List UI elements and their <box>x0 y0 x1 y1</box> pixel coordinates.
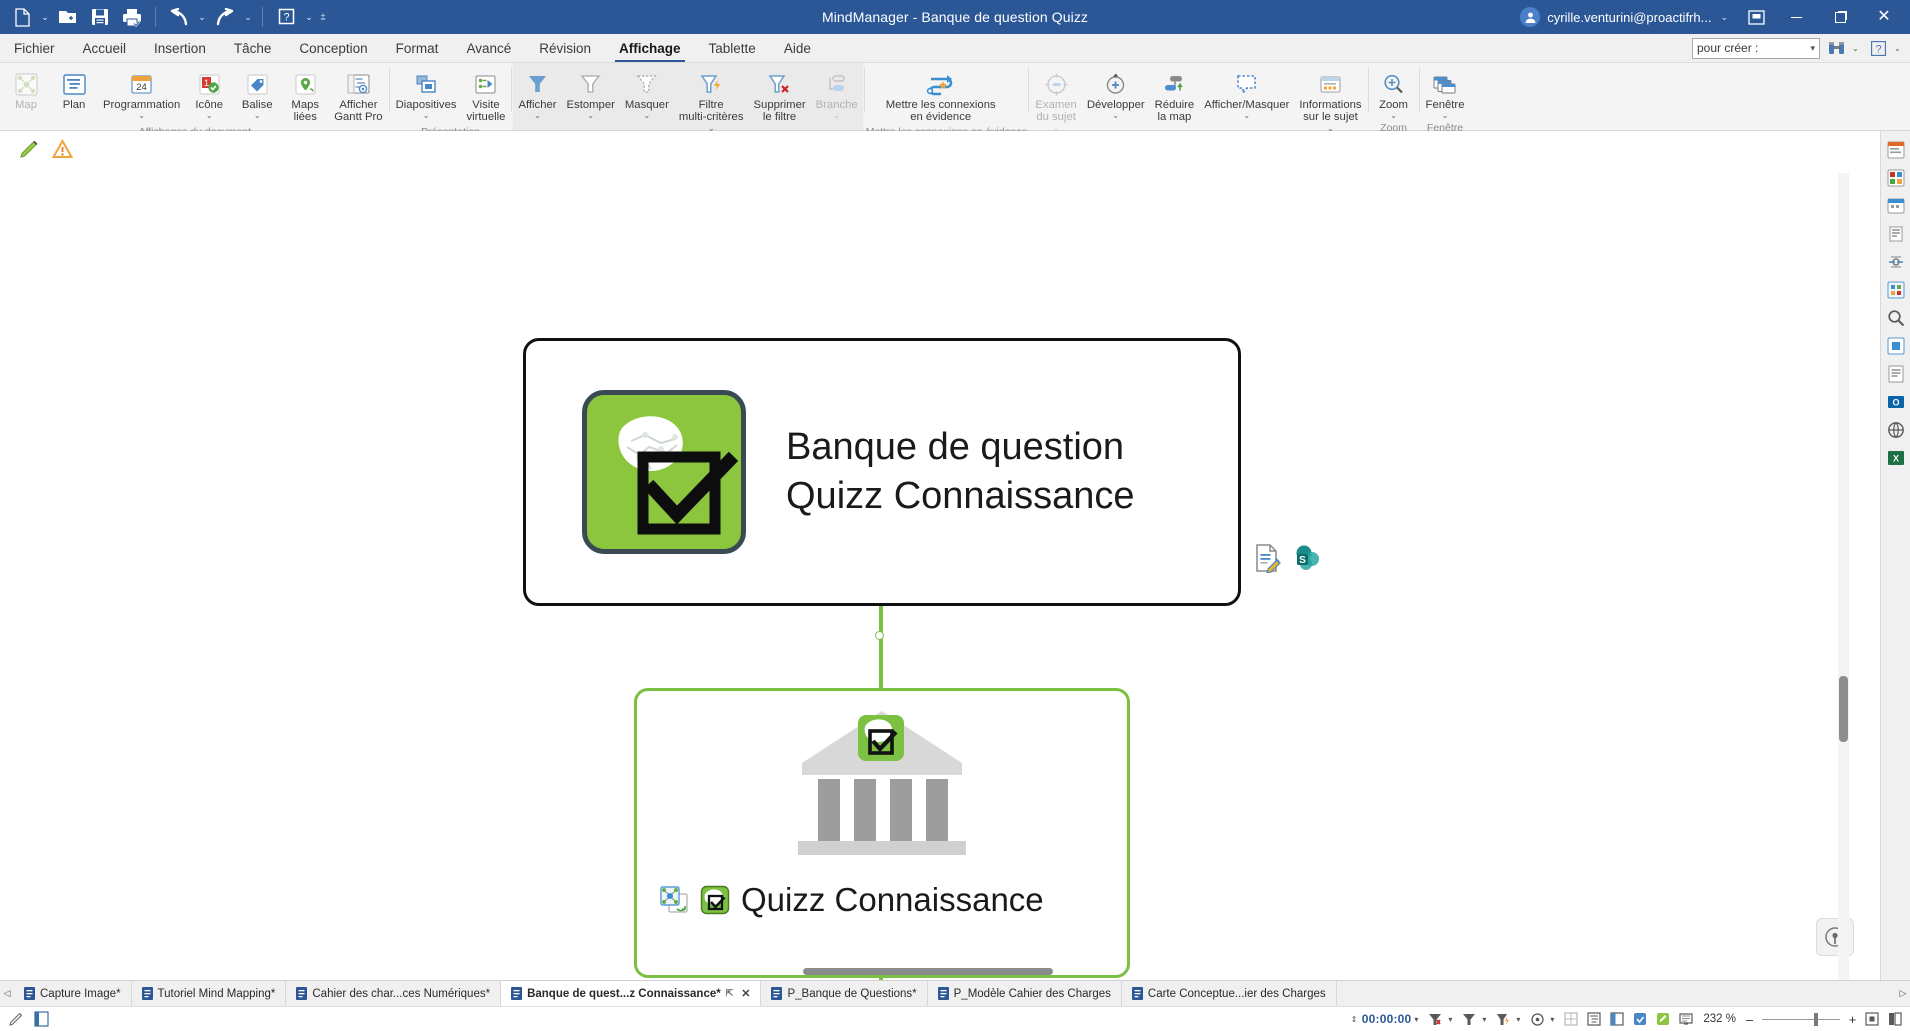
timer-caret-icon[interactable]: ▾ <box>1414 1015 1422 1024</box>
ribbon-button-afficher[interactable]: Afficher ⌄ <box>513 67 561 120</box>
ribbon-label: Développer <box>1087 99 1145 111</box>
help-caret-icon[interactable]: ⌄ <box>302 2 316 32</box>
tab-strip-right: pour créer : ▾ ⌄ ? ⌄ <box>1692 34 1910 62</box>
ribbon-tab-strip: Fichier Accueil Insertion Tâche Concepti… <box>0 34 1910 63</box>
power-filter-icon <box>699 69 724 99</box>
ribbon-label: Supprimer le filtre <box>754 99 806 124</box>
mind-map-canvas[interactable]: Banque de question Quizz Connaissance S <box>0 131 1880 980</box>
document-tab-p-banque-de-questions[interactable]: P_Banque de Questions* <box>761 981 927 1006</box>
ribbon-label: Filtre multi-critères <box>679 99 744 124</box>
svg-text:?: ? <box>1875 43 1881 55</box>
chevron-down-icon[interactable]: ⌄ <box>1390 111 1397 120</box>
document-icon <box>1132 987 1143 1000</box>
view-highlight-icon[interactable] <box>1630 1009 1650 1029</box>
ribbon-button-estomper[interactable]: Estomper ⌄ <box>562 67 620 120</box>
timer-spinner-icon[interactable]: ⇕ <box>1351 1015 1359 1024</box>
svg-text:24: 24 <box>136 82 147 93</box>
help-icon[interactable]: ? <box>270 2 302 32</box>
close-icon: ✕ <box>1877 9 1890 25</box>
ribbon-group-mettre-les-connexions-en-evidence: Mettre les connexions en évidence ⌄ Mett… <box>866 63 1028 130</box>
ribbon-label: Programmation <box>103 99 180 111</box>
ribbon-button-icone[interactable]: 1 Icône ⌄ <box>185 67 233 120</box>
tab-tablette[interactable]: Tablette <box>695 34 770 62</box>
ribbon-button-afficher-gantt-pro[interactable]: Afficher Gantt Pro <box>329 67 387 124</box>
tab-fichier[interactable]: Fichier <box>0 34 69 62</box>
quick-access-toolbar: ⌄ ⌄ ⌄ ? ⌄ ⩲ <box>0 0 330 34</box>
print-icon[interactable] <box>116 2 148 32</box>
save-icon[interactable] <box>84 2 116 32</box>
chevron-down-icon[interactable]: ⌄ <box>138 111 145 120</box>
collapse-handle[interactable] <box>875 631 884 640</box>
child-topic-text: Quizz Connaissance <box>741 881 1044 919</box>
avatar <box>1520 7 1540 27</box>
ribbon-group-detail: Examen du sujet ⌄ Développer ⌄ Réduire l… <box>1030 63 1366 130</box>
filter-fade-icon <box>578 69 603 99</box>
ribbon-label: Visite virtuelle <box>467 99 506 124</box>
window-cascade-icon <box>1432 69 1458 99</box>
ribbon: Map Plan 24 Programmation ⌄ 1 Icône <box>0 63 1910 131</box>
document-tab-carte-conceptuelle-cahier-des-charges[interactable]: Carte Conceptue...ier des Charges <box>1122 981 1337 1006</box>
document-icon <box>938 987 949 1000</box>
document-tab-label: Tutoriel Mind Mapping* <box>158 988 276 1000</box>
document-tab-tutoriel-mind-mapping[interactable]: Tutoriel Mind Mapping* <box>132 981 287 1006</box>
outline-view-icon <box>62 69 87 99</box>
brain-checkbox-green-icon <box>582 390 746 554</box>
account-button[interactable]: cyrille.venturini@proactifrh... ⌄ <box>1510 0 1738 34</box>
svg-text:X: X <box>1892 454 1898 464</box>
chevron-down-icon[interactable]: ⌄ <box>206 111 213 120</box>
chevron-down-icon[interactable]: ⌄ <box>833 111 840 120</box>
ribbon-button-map[interactable]: Map <box>2 67 50 111</box>
tab-revision[interactable]: Révision <box>525 34 605 62</box>
collapse-map-icon <box>1162 69 1187 99</box>
title-bar-right: cyrille.venturini@proactifrh... ⌄ ✕ <box>1510 0 1910 34</box>
document-tab-label: Cahier des char...ces Numériques* <box>312 988 490 1000</box>
map-view-icon <box>14 69 39 99</box>
child-topic-row: Quizz Connaissance <box>637 881 1127 919</box>
branch-icon <box>824 69 849 99</box>
highlight-connections-icon <box>925 69 957 99</box>
ribbon-label: Maps liées <box>291 99 319 124</box>
central-topic-text: Banque de question Quizz Connaissance <box>786 423 1135 520</box>
tab-format[interactable]: Format <box>382 34 453 62</box>
document-tab-cahier-des-charges-numeriques[interactable]: Cahier des char...ces Numériques* <box>286 981 501 1006</box>
expand-icon <box>1103 69 1128 99</box>
brain-checkbox-small-icon[interactable] <box>700 885 730 915</box>
undo-caret-icon[interactable]: ⌄ <box>195 2 209 32</box>
document-icon <box>142 987 153 1000</box>
show-hide-icon <box>1234 69 1259 99</box>
ribbon-button-filtre-multi-criteres[interactable]: Filtre multi-critères ⌄ <box>674 67 749 133</box>
ribbon-label: Masquer <box>625 99 669 111</box>
document-tab-label: P_Banque de Questions* <box>787 988 916 1000</box>
doctabs-prev-arrow[interactable]: ◁ <box>0 981 14 1006</box>
group-separator <box>1028 67 1029 112</box>
connector-child-to-add <box>879 978 883 980</box>
qat-separator-2 <box>262 7 263 27</box>
group-separator <box>1368 67 1369 112</box>
zoom-in-icon <box>1381 69 1406 99</box>
task-info-panel-icon[interactable] <box>1884 137 1908 163</box>
ribbon-label: Diapositives <box>396 99 457 111</box>
svg-text:?: ? <box>283 12 289 24</box>
ribbon-button-plan[interactable]: Plan <box>50 67 98 111</box>
connector-central-to-child <box>879 606 883 690</box>
qat-more-icon[interactable]: ⩲ <box>316 2 330 32</box>
filter-hide-icon <box>634 69 659 99</box>
svg-text:O: O <box>1892 398 1899 408</box>
ribbon-label: Informations sur le sujet <box>1299 99 1361 124</box>
central-topic[interactable]: Banque de question Quizz Connaissance <box>523 338 1241 606</box>
svg-text:1: 1 <box>204 78 209 88</box>
ribbon-button-maps-liees[interactable]: Maps liées <box>281 67 329 124</box>
sharepoint-icon[interactable]: S <box>1292 543 1322 573</box>
central-topic-side-icons: S <box>1252 543 1322 573</box>
chevron-down-icon[interactable]: ⌄ <box>1112 111 1119 120</box>
help-caret-icon-2[interactable]: ⌄ <box>1894 44 1904 53</box>
group-separator <box>389 67 390 112</box>
group-separator <box>511 67 512 112</box>
title-bar: ⌄ ⌄ ⌄ ? ⌄ ⩲ MindManager - Banque de ques… <box>0 0 1910 34</box>
ribbon-group-zoom: Zoom ⌄ Zoom <box>1370 63 1418 130</box>
ribbon-group-affichages-du-document: Map Plan 24 Programmation ⌄ 1 Icône <box>2 63 388 130</box>
document-icon <box>511 987 522 1000</box>
icon-marker-icon: 1 <box>197 69 222 99</box>
document-icon <box>296 987 307 1000</box>
markers-panel-icon[interactable] <box>1884 165 1908 191</box>
tab-accueil[interactable]: Accueil <box>69 34 141 62</box>
filter-red-caret-icon[interactable]: ▾ <box>1448 1015 1456 1024</box>
tab-tache[interactable]: Tâche <box>220 34 286 62</box>
filter-blue-caret-icon[interactable]: ▾ <box>1482 1015 1490 1024</box>
account-name: cyrille.venturini@proactifrh... <box>1547 10 1711 25</box>
svg-text:S: S <box>1299 555 1306 566</box>
ribbon-group-fenetre: Fenêtre ⌄ Fenêtre <box>1421 63 1470 130</box>
find-caret-icon[interactable]: ⌄ <box>1852 44 1862 53</box>
filter-purple-icon[interactable] <box>1493 1009 1513 1029</box>
view-presentation-icon[interactable] <box>1676 1009 1696 1029</box>
topic-info-icon <box>1318 69 1343 99</box>
tell-me-value: pour créer : <box>1697 41 1758 55</box>
ribbon-label: Map <box>15 99 37 111</box>
ribbon-group-presentation: Diapositives ⌄ Visite virtuelle Présenta… <box>391 63 511 130</box>
document-tab-label: Banque de quest...z Connaissance* <box>527 988 721 1000</box>
help-question-icon[interactable]: ? <box>1866 37 1890 59</box>
note-edit-icon[interactable] <box>1252 543 1282 573</box>
document-icon <box>24 987 35 1000</box>
ribbon-label: Examen du sujet <box>1035 99 1076 124</box>
ribbon-label: Afficher Gantt Pro <box>334 99 382 124</box>
excel-panel-icon[interactable]: X <box>1884 445 1908 471</box>
ribbon-label: Afficher <box>518 99 556 111</box>
status-bar-left <box>0 1009 51 1029</box>
ribbon-label: Afficher/Masquer <box>1204 99 1289 111</box>
ribbon-button-afficher-masquer[interactable]: Afficher/Masquer ⌄ <box>1199 67 1294 120</box>
ribbon-label: Branche <box>816 99 858 111</box>
document-tab-bar: ◁ Capture Image* Tutoriel Mind Mapping* … <box>0 980 1910 1006</box>
web-panel-icon[interactable] <box>1884 417 1908 443</box>
filter-show-icon <box>525 69 550 99</box>
tell-me-input[interactable]: pour créer : ▾ <box>1692 38 1820 59</box>
tab-insertion[interactable]: Insertion <box>140 34 220 62</box>
ribbon-button-informations-sur-le-sujet[interactable]: Informations sur le sujet ⌄ <box>1294 67 1366 133</box>
topic-review-icon <box>1044 69 1069 99</box>
doctabs-next-arrow[interactable]: ▷ <box>1896 981 1910 1006</box>
ribbon-label: Icône <box>195 99 223 111</box>
ribbon-button-fenetre[interactable]: Fenêtre ⌄ <box>1421 67 1470 120</box>
ribbon-button-supprimer-le-filtre[interactable]: Supprimer le filtre <box>749 67 811 124</box>
ribbon-button-reduire-la-map[interactable]: Réduire la map <box>1150 67 1200 124</box>
zoom-percent: 232 % <box>1699 1013 1740 1025</box>
ribbon-button-masquer[interactable]: Masquer ⌄ <box>620 67 674 120</box>
topic-styles-panel-icon[interactable] <box>1884 249 1908 275</box>
calendar-panel-icon[interactable] <box>1884 193 1908 219</box>
ribbon-display-options-icon[interactable] <box>1738 0 1774 34</box>
chevron-down-icon[interactable]: ⌄ <box>587 111 594 120</box>
ribbon-button-diapositives[interactable]: Diapositives ⌄ <box>391 67 462 120</box>
map-canvas-area[interactable]: Banque de question Quizz Connaissance S <box>0 131 1880 980</box>
view-grid-icon[interactable] <box>1561 1009 1581 1029</box>
child-topic[interactable]: Quizz Connaissance <box>634 688 1130 978</box>
library-panel-icon[interactable] <box>1884 277 1908 303</box>
pin-icon[interactable]: ⇱ <box>726 988 734 999</box>
zoom-slider[interactable] <box>1759 1019 1843 1020</box>
vertical-scrollbar-track[interactable] <box>1838 173 1849 980</box>
redo-icon[interactable] <box>209 2 241 32</box>
ribbon-button-developper[interactable]: Développer ⌄ <box>1082 67 1150 120</box>
ribbon-button-mettre-les-connexions-en-evidence[interactable]: Mettre les connexions en évidence ⌄ <box>866 67 1016 124</box>
find-binoculars-icon[interactable] <box>1824 37 1848 59</box>
chevron-down-icon[interactable]: ⌄ <box>423 111 430 120</box>
open-folder-icon[interactable] <box>52 2 84 32</box>
chevron-down-icon[interactable]: ⌄ <box>534 111 541 120</box>
close-icon[interactable]: ✕ <box>741 987 750 1000</box>
chevron-down-icon[interactable]: ⌄ <box>1720 12 1728 23</box>
ribbon-label: Réduire la map <box>1155 99 1195 124</box>
filter-blue-icon[interactable] <box>1459 1009 1479 1029</box>
ribbon-button-branche[interactable]: Branche ⌄ <box>811 67 863 120</box>
gantt-pro-icon <box>346 69 371 99</box>
workspace: Banque de question Quizz Connaissance S <box>0 131 1910 980</box>
document-tab-p-modele-cahier-des-charges[interactable]: P_Modèle Cahier des Charges <box>928 981 1122 1006</box>
notes-panel-icon[interactable] <box>1884 361 1908 387</box>
zoom-slider-handle[interactable] <box>1814 1013 1818 1026</box>
index-panel-icon[interactable] <box>1884 221 1908 247</box>
fit-page-icon[interactable] <box>1862 1009 1882 1029</box>
ribbon-group-filtre: Afficher ⌄ Estomper ⌄ Masquer ⌄ <box>513 63 862 130</box>
tab-avance[interactable]: Avancé <box>452 34 525 62</box>
view-pen-icon[interactable] <box>1653 1009 1673 1029</box>
close-button[interactable]: ✕ <box>1862 0 1906 34</box>
filter-red-icon[interactable] <box>1425 1009 1445 1029</box>
document-icon <box>771 987 782 1000</box>
tag-icon <box>245 69 270 99</box>
redo-caret-icon[interactable]: ⌄ <box>241 2 255 32</box>
ribbon-label: Zoom <box>1379 99 1408 111</box>
view-split-icon[interactable] <box>1607 1009 1627 1029</box>
focus-caret-icon[interactable]: ▾ <box>1550 1015 1558 1024</box>
central-topic-line-2: Quizz Connaissance <box>786 472 1135 521</box>
full-screen-icon[interactable] <box>1885 1009 1905 1029</box>
ribbon-label: Plan <box>63 99 86 111</box>
zoom-slider-track <box>1762 1019 1840 1020</box>
new-icon[interactable] <box>6 2 38 32</box>
pen-marker-icon[interactable] <box>6 1009 26 1029</box>
status-bar-right: ⇕ 00:00:00 ▾ ▾ ▾ ▾ ▾ <box>1351 1009 1910 1029</box>
ribbon-button-visite-virtuelle[interactable]: Visite virtuelle <box>462 67 511 124</box>
clear-filter-icon <box>767 69 792 99</box>
qat-separator-1 <box>155 7 156 27</box>
group-separator <box>1419 67 1420 112</box>
tab-aide[interactable]: Aide <box>770 34 825 62</box>
ribbon-button-examen-du-sujet[interactable]: Examen du sujet ⌄ <box>1030 67 1081 133</box>
status-bar: ⇕ 00:00:00 ▾ ▾ ▾ ▾ ▾ <box>0 1006 1910 1031</box>
document-tab-label: Carte Conceptue...ier des Charges <box>1148 988 1326 1000</box>
chevron-down-icon[interactable]: ▾ <box>1810 43 1815 54</box>
walkthrough-icon <box>473 69 498 99</box>
focus-target-icon[interactable] <box>1527 1009 1547 1029</box>
ribbon-label: Estomper <box>567 99 615 111</box>
document-status-icon[interactable] <box>31 1009 51 1029</box>
slides-icon <box>414 69 439 99</box>
document-tab-filler <box>1337 981 1896 1006</box>
minimize-button[interactable] <box>1774 0 1818 34</box>
chevron-down-icon[interactable]: ⌄ <box>254 111 261 120</box>
view-outline-icon[interactable] <box>1584 1009 1604 1029</box>
horizontal-scrollbar-thumb[interactable] <box>803 968 1053 975</box>
group-separator <box>864 67 865 112</box>
right-task-panel-rail: O X <box>1880 131 1910 980</box>
filter-purple-caret-icon[interactable]: ▾ <box>1516 1015 1524 1024</box>
new-caret-icon[interactable]: ⌄ <box>38 2 52 32</box>
tab-conception[interactable]: Conception <box>285 34 381 62</box>
ribbon-button-programmation[interactable]: 24 Programmation ⌄ <box>98 67 185 120</box>
search-panel-icon[interactable] <box>1884 305 1908 331</box>
document-tab-label: Capture Image* <box>40 988 121 1000</box>
linked-maps-icon <box>293 69 318 99</box>
document-tab-label: P_Modèle Cahier des Charges <box>954 988 1111 1000</box>
ribbon-label: Fenêtre <box>1426 99 1465 111</box>
undo-icon[interactable] <box>163 2 195 32</box>
schedule-calendar-icon: 24 <box>129 69 154 99</box>
timer-value: 00:00:00 <box>1362 1012 1412 1026</box>
zoom-out-button[interactable]: – <box>1743 1012 1756 1027</box>
central-topic-line-1: Banque de question <box>786 423 1135 472</box>
chevron-down-icon[interactable]: ⌄ <box>1442 111 1449 120</box>
ribbon-button-zoom[interactable]: Zoom ⌄ <box>1370 67 1418 120</box>
snap-panel-icon[interactable] <box>1884 333 1908 359</box>
tab-affichage[interactable]: Affichage <box>605 34 695 62</box>
outlook-panel-icon[interactable]: O <box>1884 389 1908 415</box>
ribbon-label: Mettre les connexions en évidence <box>886 99 996 124</box>
bank-building-icon <box>637 691 1127 881</box>
document-tab-capture-image[interactable]: Capture Image* <box>14 981 132 1006</box>
chevron-down-icon[interactable]: ⌄ <box>644 111 651 120</box>
vertical-scrollbar-thumb[interactable] <box>1839 676 1848 742</box>
linked-map-refresh-icon[interactable] <box>659 885 689 915</box>
restore-button[interactable] <box>1818 0 1862 34</box>
document-tab-banque-de-question-quizz-connaissance[interactable]: Banque de quest...z Connaissance* ⇱ ✕ <box>501 981 761 1006</box>
ribbon-button-balise[interactable]: Balise ⌄ <box>233 67 281 120</box>
ribbon-label: Balise <box>242 99 273 111</box>
chevron-down-icon[interactable]: ⌄ <box>1243 111 1250 120</box>
zoom-in-button[interactable]: + <box>1846 1012 1859 1027</box>
